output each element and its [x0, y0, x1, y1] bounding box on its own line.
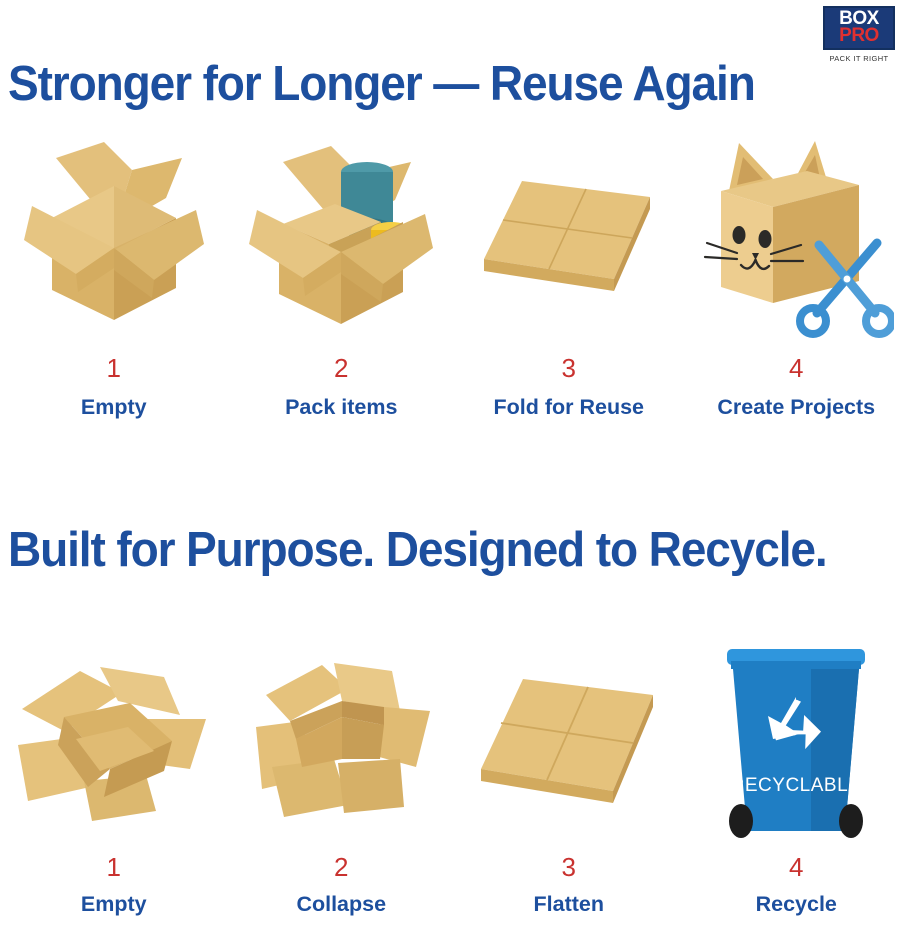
step-label: Collapse — [296, 892, 386, 917]
step-label: Recycle — [756, 892, 837, 917]
step-recycle-3: 3 Flatten — [455, 640, 683, 949]
step-number: 1 — [107, 355, 121, 381]
step-reuse-1: 1 Empty — [0, 130, 228, 470]
step-number: 2 — [334, 355, 348, 381]
step-label: Empty — [81, 892, 147, 917]
empty-box-top-illustration — [0, 640, 228, 850]
step-number: 3 — [562, 854, 576, 880]
section-headline-recycle: Built for Purpose. Designed to Recycle. — [8, 522, 827, 578]
step-label: Pack items — [285, 395, 397, 420]
step-number: 3 — [562, 355, 576, 381]
step-label: Create Projects — [717, 395, 875, 420]
step-reuse-3: 3 Fold for Reuse — [455, 130, 683, 470]
folded-panel-illustration — [455, 130, 683, 345]
recycle-bin-illustration: RECYCLABLE — [683, 640, 910, 850]
step-number: 4 — [789, 854, 803, 880]
open-box-illustration — [0, 130, 228, 345]
steps-row-recycle: 1 Empty 2 Col — [0, 640, 910, 949]
logo-badge: BOX PRO — [823, 6, 895, 50]
step-recycle-2: 2 Collapse — [228, 640, 456, 949]
section-headline-reuse: Stronger for Longer — Reuse Again — [8, 56, 755, 112]
step-reuse-4: 4 Create Projects — [683, 130, 910, 470]
step-number: 2 — [334, 854, 348, 880]
infographic-page: BOX PRO PACK IT RIGHT Stronger for Longe… — [0, 0, 910, 949]
brand-logo: BOX PRO PACK IT RIGHT — [816, 6, 902, 63]
flattened-panel-illustration — [455, 640, 683, 850]
logo-tagline: PACK IT RIGHT — [816, 54, 902, 63]
packed-box-illustration — [228, 130, 456, 345]
step-reuse-2: 2 Pack items — [228, 130, 456, 470]
step-number: 4 — [789, 355, 803, 381]
step-label: Fold for Reuse — [493, 395, 644, 420]
steps-row-reuse: 1 Empty — [0, 130, 910, 470]
collapsing-box-illustration — [228, 640, 456, 850]
step-label: Empty — [81, 395, 147, 420]
step-recycle-1: 1 Empty — [0, 640, 228, 949]
step-recycle-4: RECYCLABLE 4 Recycle — [683, 640, 910, 949]
recyclable-text: RECYCLABLE — [731, 775, 862, 796]
step-number: 1 — [107, 854, 121, 880]
logo-text-pro: PRO — [839, 28, 879, 45]
step-label: Flatten — [534, 892, 604, 917]
cat-box-craft-illustration — [683, 130, 910, 345]
